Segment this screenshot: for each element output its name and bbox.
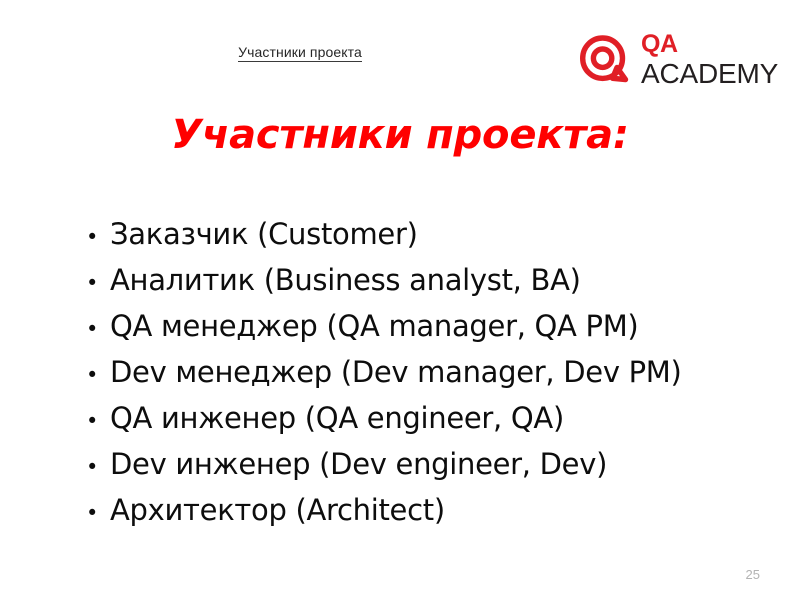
- list-item: • Dev менеджер (Dev manager, Dev PM): [86, 355, 786, 401]
- list-item-label: QA инженер (QA engineer, QA): [110, 401, 564, 435]
- logo-wordmark: QA ACADEMY: [641, 31, 778, 88]
- bullet-dot-icon: •: [86, 503, 110, 524]
- running-header: Участники проекта: [0, 44, 600, 62]
- list-item-label: Dev инженер (Dev engineer, Dev): [110, 447, 607, 481]
- bullet-dot-icon: •: [86, 365, 110, 386]
- qa-academy-logo: QA ACADEMY: [576, 26, 776, 92]
- bullet-dot-icon: •: [86, 273, 110, 294]
- bullet-dot-icon: •: [86, 411, 110, 432]
- page-number: 25: [746, 567, 760, 582]
- list-item: • Архитектор (Architect): [86, 493, 786, 539]
- list-item: • Заказчик (Customer): [86, 217, 786, 263]
- list-item-label: QA менеджер (QA manager, QA PM): [110, 309, 638, 343]
- list-item: • Аналитик (Business analyst, BA): [86, 263, 786, 309]
- bullet-dot-icon: •: [86, 227, 110, 248]
- logo-line-qa: QA: [641, 32, 778, 57]
- bullet-dot-icon: •: [86, 319, 110, 340]
- list-item: • QA инженер (QA engineer, QA): [86, 401, 786, 447]
- presentation-slide: Участники проекта QA ACADEMY Участники п…: [0, 0, 800, 600]
- list-item-label: Dev менеджер (Dev manager, Dev PM): [110, 355, 682, 389]
- list-item-label: Аналитик (Business analyst, BA): [110, 263, 581, 297]
- bullet-dot-icon: •: [86, 457, 110, 478]
- list-item-label: Заказчик (Customer): [110, 217, 418, 251]
- list-item-label: Архитектор (Architect): [110, 493, 445, 527]
- page-title: Участники проекта:: [0, 112, 800, 158]
- list-item: • Dev инженер (Dev engineer, Dev): [86, 447, 786, 493]
- qa-academy-mark-icon: [576, 31, 632, 87]
- logo-line-academy: ACADEMY: [641, 60, 778, 88]
- project-participants-list: • Заказчик (Customer) • Аналитик (Busine…: [86, 217, 786, 539]
- list-item: • QA менеджер (QA manager, QA PM): [86, 309, 786, 355]
- running-header-text: Участники проекта: [238, 44, 362, 62]
